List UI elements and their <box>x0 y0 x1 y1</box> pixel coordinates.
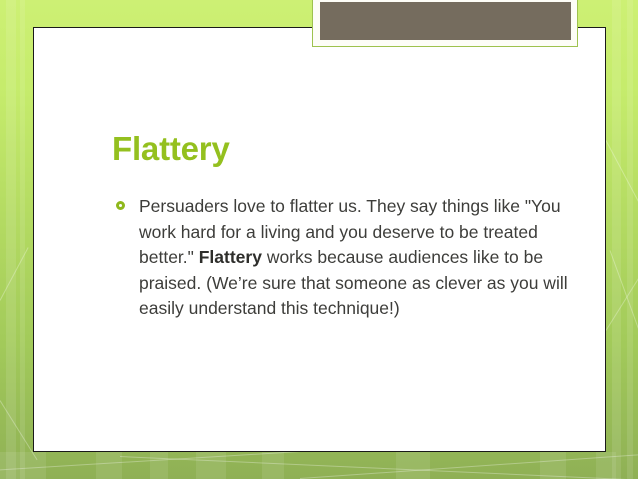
deco-line <box>610 250 638 335</box>
deco-wedge <box>540 452 566 479</box>
deco-line <box>606 140 638 246</box>
page-title: Flattery <box>112 131 230 167</box>
presentation-slide: Flattery Persuaders love to flatter us. … <box>0 0 638 479</box>
ring-bullet-icon <box>116 201 125 210</box>
slide-body: Persuaders love to flatter us. They say … <box>114 194 584 322</box>
deco-wedge <box>96 452 122 479</box>
deco-stripe <box>6 0 16 479</box>
slide-content-card: Flattery Persuaders love to flatter us. … <box>33 27 606 452</box>
deco-wedge <box>196 452 226 479</box>
deco-wedge <box>150 452 168 479</box>
deco-wedge <box>396 452 430 479</box>
list-item: Persuaders love to flatter us. They say … <box>114 194 584 322</box>
deco-line <box>300 453 638 479</box>
deco-line <box>606 212 638 331</box>
deco-wedge <box>0 452 46 479</box>
photo-placeholder <box>320 2 571 40</box>
bullet-text: Persuaders love to flatter us. They say … <box>139 196 568 318</box>
deco-stripe <box>20 0 25 479</box>
deco-line <box>120 456 638 479</box>
deco-stripe <box>612 0 621 479</box>
deco-line <box>0 247 29 300</box>
deco-stripe <box>627 0 633 479</box>
deco-wedge <box>596 452 616 479</box>
deco-wedge <box>262 452 284 479</box>
photo-frame <box>312 0 578 47</box>
deco-line <box>0 400 38 460</box>
